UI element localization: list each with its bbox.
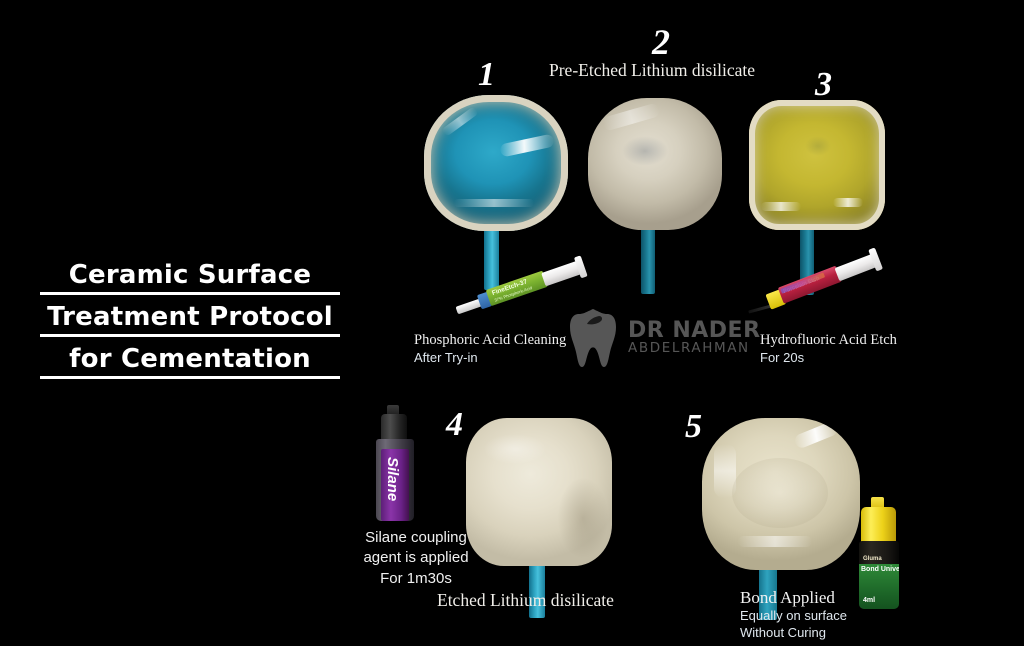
crown-2-highlight — [601, 102, 661, 131]
watermark-logo: DR NADER ABDELRAHMAN — [566, 305, 776, 371]
caption-step-4: Silane coupling agent is applied For 1m3… — [336, 528, 496, 589]
ceramic-crown-5 — [702, 418, 860, 570]
caption-step-1-line-1: Phosphoric Acid Cleaning — [414, 332, 566, 350]
bond-bottle-volume: 4ml — [863, 597, 875, 604]
caption-step-5-heading: Bond Applied — [740, 588, 835, 608]
crown-2-shadow — [622, 136, 668, 166]
gel-highlight-1 — [499, 134, 555, 158]
caption-step-1-line-2: After Try-in — [414, 350, 478, 367]
syringe-1-barrel: FineEtch-37 37% Phosphoric Acid — [486, 271, 548, 307]
ceramic-crown-2 — [588, 98, 722, 230]
bond-bottle-cap — [861, 507, 896, 543]
step-number-3: 3 — [815, 68, 832, 102]
caption-step-5-line-1: Equally on surface — [740, 608, 847, 625]
gel-highlight-1c — [454, 199, 534, 207]
title-line-2: Treatment Protocol — [40, 304, 340, 337]
bond-gloss-highlight-1 — [793, 420, 839, 449]
syringe-3-barrel: Porcelain Etch — [778, 266, 842, 304]
gel-highlight-3c — [805, 136, 831, 156]
bond-bottle-label-text: Bond Universal — [861, 566, 899, 573]
title-line-3: for Cementation — [40, 346, 340, 379]
crown-4-edge-shade — [558, 478, 608, 558]
silane-bottle: Silane — [368, 405, 424, 523]
gel-highlight-1b — [441, 106, 479, 137]
ceramic-crown-3 — [749, 100, 885, 230]
caption-step-3-line-1: Hydrofluoric Acid Etch — [760, 332, 897, 350]
title-line-1: Ceramic Surface — [40, 262, 340, 295]
heading-step-4: Etched Lithium disilicate — [437, 590, 614, 611]
bond-gloss-highlight-3 — [738, 536, 812, 547]
syringe-3-label-band — [780, 272, 825, 293]
watermark-line-1: DR NADER — [628, 320, 761, 342]
crown-5-body-shade — [732, 458, 828, 528]
universal-bond-bottle: Gluma Bond Universal 4ml — [848, 497, 910, 612]
tooth-icon — [566, 306, 622, 370]
caption-step-4-line-2: agent is applied — [336, 548, 496, 568]
caption-step-5-line-2: Without Curing — [740, 625, 826, 642]
silane-bottle-body: Silane — [376, 439, 414, 521]
step-number-2: 2 — [652, 24, 670, 60]
step-number-5: 5 — [685, 410, 702, 444]
caption-step-4-line-3: For 1m30s — [336, 569, 496, 589]
mounting-stick-2 — [641, 222, 655, 294]
ceramic-crown-1 — [424, 95, 568, 231]
watermark-line-2: ABDELRAHMAN — [628, 342, 761, 356]
bond-bottle-label: Bond Universal 4ml — [859, 564, 899, 609]
step-number-1: 1 — [478, 58, 495, 92]
page-title: Ceramic Surface Treatment Protocol for C… — [40, 262, 340, 388]
silane-bottle-label-text: Silane — [384, 457, 401, 501]
silane-bottle-cap — [381, 414, 407, 441]
bond-gloss-highlight-2 — [714, 444, 736, 498]
step-number-4: 4 — [446, 408, 463, 442]
heading-step-2: Pre-Etched Lithium disilicate — [549, 60, 755, 81]
poster-canvas: Ceramic Surface Treatment Protocol for C… — [0, 0, 1024, 646]
silane-bottle-label: Silane — [381, 449, 409, 521]
bond-bottle-brand: Gluma — [863, 556, 882, 562]
crown-4-matte-sheen — [484, 434, 546, 464]
gel-highlight-3b — [833, 198, 863, 207]
gel-highlight-3 — [761, 202, 801, 211]
caption-step-4-line-1: Silane coupling — [336, 528, 496, 548]
bond-bottle-body: Gluma Bond Universal 4ml — [859, 541, 899, 609]
